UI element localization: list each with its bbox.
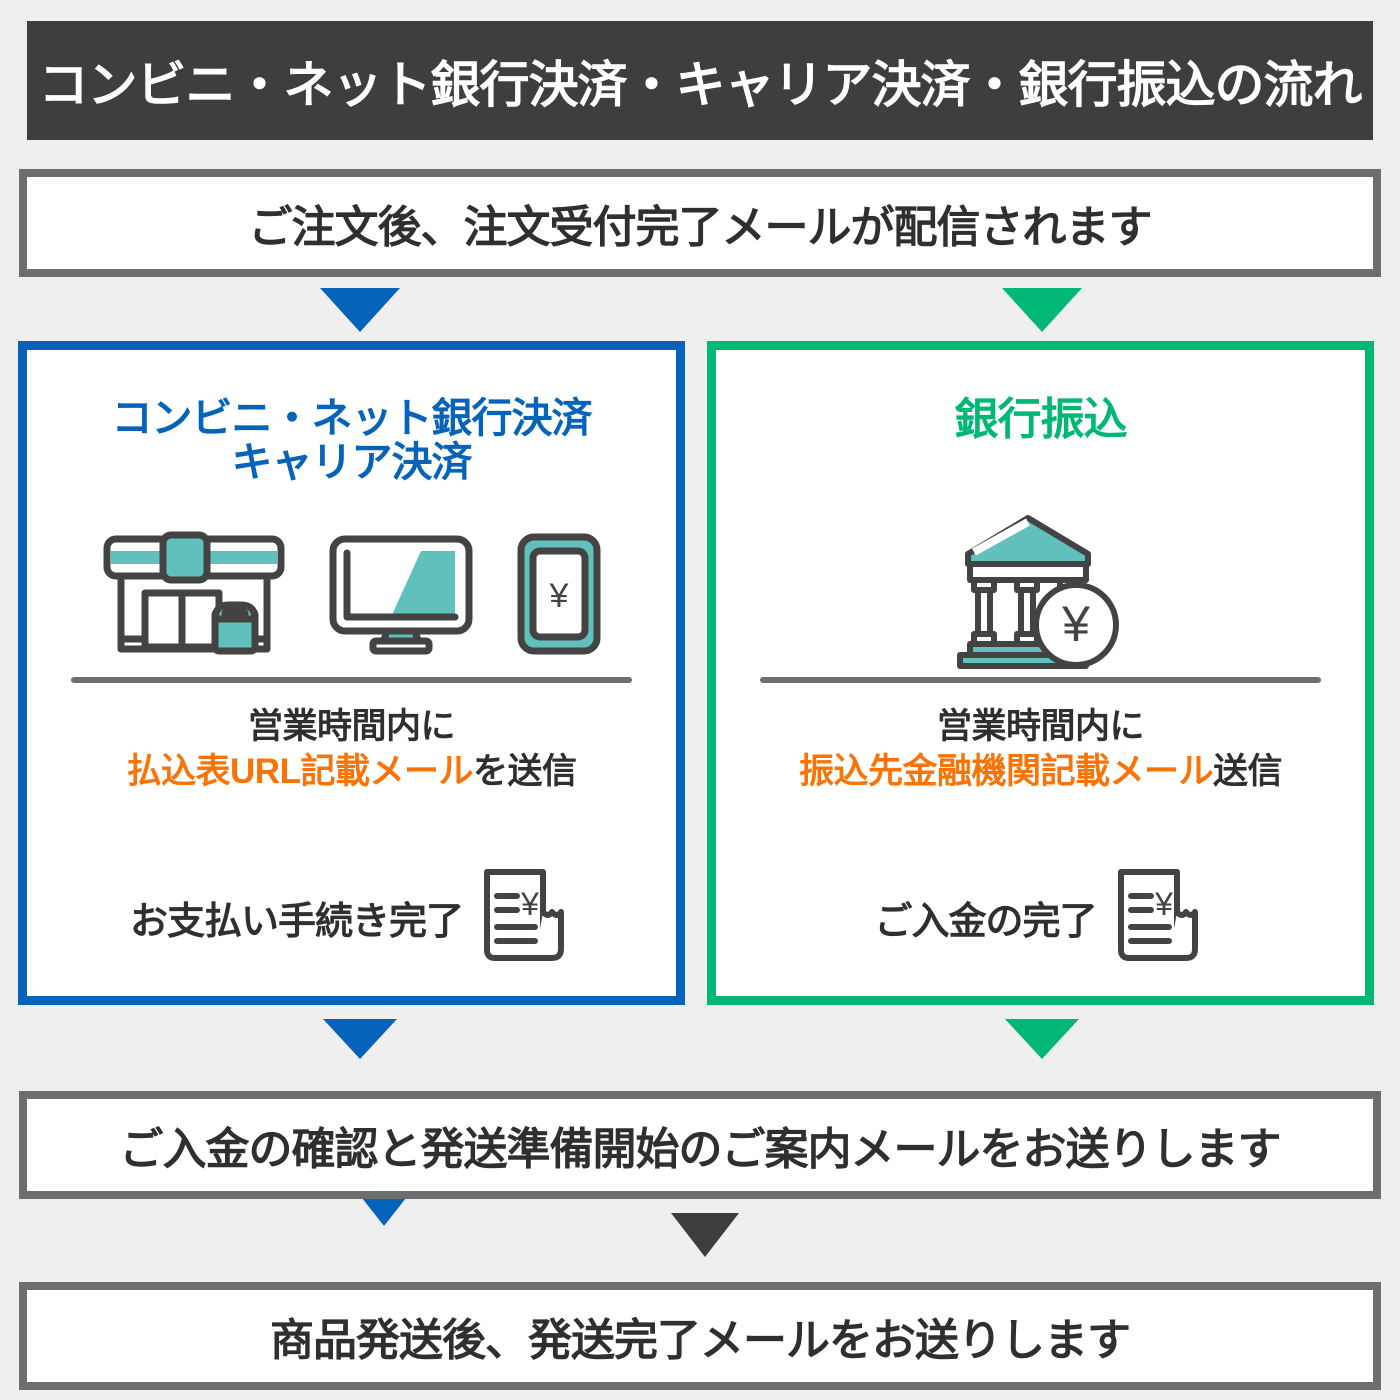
conveni-icon-row: ¥: [27, 526, 676, 666]
conveni-notice-line2: 払込表URL記載メールを送信: [27, 750, 676, 795]
card-divider-conveni: [71, 677, 632, 683]
step-payment-confirmed-label: ご入金の確認と発送準備開始のご案内メールをお送りします: [120, 1113, 1281, 1177]
payment-flow-diagram: コンビニ・ネット銀行決済・キャリア決済・銀行振込の流れ ご注文後、注文受付完了メ…: [0, 0, 1400, 1400]
down-arrow-icon-to-shipping: [671, 1213, 739, 1257]
bank-building-yen-icon: ¥: [952, 510, 1130, 675]
card-title-conveni: コンビニ・ネット銀行決済 キャリア決済: [27, 396, 676, 485]
bank-completion-label: ご入金の完了: [874, 890, 1096, 945]
bank-icon-row: ¥: [716, 510, 1365, 675]
step-shipped-box: 商品発送後、発送完了メールをお送りします: [19, 1282, 1381, 1390]
down-arrow-icon-from-bank: [1005, 1019, 1079, 1059]
step-order-confirmation-box: ご注文後、注文受付完了メールが配信されます: [19, 169, 1381, 277]
receipt-yen-icon: ¥: [1111, 865, 1207, 970]
svg-text:¥: ¥: [1061, 596, 1090, 652]
conveni-notice-line1: 営業時間内に: [27, 705, 676, 750]
bank-notice-highlight: 振込先金融機関記載メール: [799, 752, 1213, 791]
bank-notice-suffix: 送信: [1213, 752, 1282, 791]
bank-notice-line2: 振込先金融機関記載メール送信: [716, 750, 1365, 795]
card-title-bank-line1: 銀行振込: [716, 396, 1365, 444]
svg-text:¥: ¥: [548, 577, 568, 615]
conveni-completion-row: お支払い手続き完了 ¥: [27, 869, 676, 965]
step-order-confirmation-label: ご注文後、注文受付完了メールが配信されます: [249, 191, 1152, 255]
payment-method-card-conveni: コンビニ・ネット銀行決済 キャリア決済: [18, 341, 685, 1005]
svg-text:¥: ¥: [1154, 886, 1173, 922]
conveni-completion-label: お支払い手続き完了: [130, 890, 463, 945]
down-arrow-icon-to-conveni: [320, 288, 400, 332]
payment-method-card-bank: 銀行振込: [707, 341, 1374, 1005]
bank-notice-line1: 営業時間内に: [716, 705, 1365, 750]
svg-text:¥: ¥: [520, 886, 539, 922]
bank-notice: 営業時間内に 振込先金融機関記載メール送信: [716, 705, 1365, 795]
card-title-conveni-line1: コンビニ・ネット銀行決済: [27, 396, 676, 440]
bank-completion-row: ご入金の完了 ¥: [716, 869, 1365, 965]
receipt-yen-icon: ¥: [477, 865, 573, 970]
desktop-monitor-icon: [327, 533, 475, 660]
conveni-notice-highlight: 払込表URL記載メール: [127, 752, 473, 791]
step-payment-confirmed-box: ご入金の確認と発送準備開始のご案内メールをお送りします: [19, 1091, 1381, 1199]
step-shipped-label: 商品発送後、発送完了メールをお送りします: [270, 1304, 1130, 1368]
down-arrow-icon-to-bank: [1002, 288, 1082, 332]
down-arrow-icon-from-conveni: [323, 1019, 397, 1059]
card-divider-bank: [760, 677, 1321, 683]
card-title-conveni-line2: キャリア決済: [27, 440, 676, 484]
conveni-notice-suffix: を送信: [473, 752, 577, 791]
convenience-store-icon: [99, 531, 289, 662]
diagram-header: コンビニ・ネット銀行決済・キャリア決済・銀行振込の流れ: [27, 21, 1373, 140]
smartphone-yen-icon: ¥: [513, 531, 605, 662]
card-title-bank: 銀行振込: [716, 396, 1365, 444]
conveni-notice: 営業時間内に 払込表URL記載メールを送信: [27, 705, 676, 795]
page-title: コンビニ・ネット銀行決済・キャリア決済・銀行振込の流れ: [39, 45, 1362, 117]
